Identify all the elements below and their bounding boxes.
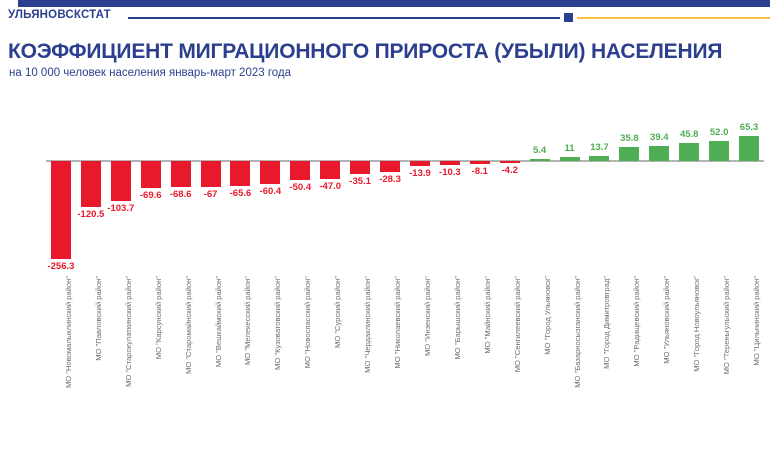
bar[interactable] [350,161,370,174]
category-axis-label: МО "Вешкаймский район" [214,276,223,367]
category-axis-label: МО "Инзенский район" [423,276,432,356]
bar-value-label: -103.7 [107,203,134,214]
bar-value-label: 65.3 [740,122,759,133]
bar[interactable] [111,161,131,201]
bar[interactable] [619,147,639,161]
category-axis-label: МО "Цильнинский район" [752,276,761,365]
bar[interactable] [380,161,400,172]
brand-rule-yellow [577,17,770,19]
top-header-band [18,0,770,7]
bar-slot: -8.1МО "Майнский район" [465,100,495,420]
bar-value-label: -35.1 [349,176,371,187]
bar[interactable] [290,161,310,180]
bar-value-label: 52.0 [710,127,729,138]
bar-value-label: -120.5 [77,209,104,220]
bar-value-label: -4.2 [502,165,518,176]
category-axis-label: МО "Павловский район" [94,276,103,361]
bar-value-label: -69.6 [140,190,162,201]
bar[interactable] [589,156,609,161]
bar[interactable] [470,161,490,164]
bar[interactable] [500,161,520,163]
bar-value-label: -68.6 [170,189,192,200]
category-axis-label: МО "Николаевский район" [393,276,402,369]
bar[interactable] [649,146,669,161]
category-axis-label: МО "Новомалыклинский район" [64,276,73,388]
bar[interactable] [260,161,280,184]
bar-value-label: 45.8 [680,129,699,140]
bar-slot: 52.0МО "Тереньгульский район" [704,100,734,420]
bar-slot: 13.7МО "Город Димитровград" [585,100,615,420]
bar-slot: -120.5МО "Павловский район" [76,100,106,420]
category-axis-label: МО "Кузоватовский район" [273,276,282,370]
category-axis-label: МО "Барышский район" [453,276,462,360]
category-axis-label: МО "Карсунский район" [154,276,163,359]
bar-value-label: -256.3 [47,261,74,272]
category-axis-label: МО "Базарносызганский район" [573,276,582,388]
bar-slot: -35.1МО "Чердаклинский район" [345,100,375,420]
bar-value-label: -65.6 [230,188,252,199]
category-axis-label: МО "Майнский район" [483,276,492,354]
bar[interactable] [440,161,460,165]
bar[interactable] [410,161,430,166]
bar-value-label: 35.8 [620,133,639,144]
bar-slot: -4.2МО "Сенгилеевский район" [495,100,525,420]
bar-value-label: 39.4 [650,132,669,143]
category-axis-label: МО "Тереньгульский район" [722,276,731,374]
bar[interactable] [530,159,550,161]
brand-square-marker [564,13,573,22]
bar-value-label: 13.7 [590,142,609,153]
chart-subtitle: на 10 000 человек населения январь-март … [9,67,291,79]
category-axis-label: МО "Старокулаткинский район" [124,276,133,387]
bar-slot: 5.4МО "Город Ульяновск" [525,100,555,420]
bar-value-label: -67 [204,189,218,200]
bar[interactable] [560,157,580,161]
bar-slot: -47.0МО "Сурский район" [315,100,345,420]
category-axis-label: МО "Ульяновский район" [662,276,671,364]
category-axis-label: МО "Новоспасский район" [303,276,312,368]
bar-slot: -50.4МО "Новоспасский район" [285,100,315,420]
bar-value-label: -8.1 [472,166,488,177]
bar-slot: -256.3МО "Новомалыклинский район" [46,100,76,420]
category-axis-label: МО "Чердаклинский район" [363,276,372,373]
bar-slot: -65.6МО "Мелекесский район" [226,100,256,420]
bar-slot: 39.4МО "Ульяновский район" [644,100,674,420]
bar-value-label: -60.4 [260,186,282,197]
bar-slot: -69.6МО "Карсунский район" [136,100,166,420]
bar[interactable] [709,141,729,161]
bar-value-label: -13.9 [409,168,431,179]
category-axis-label: МО "Радищевский район" [632,276,641,367]
bar-value-label: 11 [565,143,575,154]
bar-chart-plot-area: -256.3МО "Новомалыклинский район"-120.5М… [46,100,764,420]
bar[interactable] [739,136,759,161]
bar[interactable] [141,161,161,188]
category-axis-label: МО "Сурский район" [333,276,342,348]
bar-value-label: -10.3 [439,167,461,178]
brand-rule-blue [128,17,560,19]
bar-value-label: -28.3 [379,174,401,185]
bar[interactable] [320,161,340,179]
bar-value-label: 5.4 [533,145,546,156]
bar-slot: -67МО "Вешкаймский район" [196,100,226,420]
brand-name: УЛЬЯНОВСКСТАТ [8,9,111,21]
bar[interactable] [51,161,71,259]
category-axis-label: МО "Сенгилеевский район" [513,276,522,372]
chart-title: КОЭФФИЦИЕНТ МИГРАЦИОННОГО ПРИРОСТА (УБЫЛ… [8,40,722,64]
bar-slot: -13.9МО "Инзенский район" [405,100,435,420]
bar[interactable] [81,161,101,207]
category-axis-label: МО "Старомайнский район" [184,276,193,374]
brand-row: УЛЬЯНОВСКСТАТ [0,9,770,25]
bar[interactable] [230,161,250,186]
bar-value-label: -50.4 [289,182,311,193]
bar-slot: -28.3МО "Николаевский район" [375,100,405,420]
bar-slot: 11МО "Базарносызганский район" [555,100,585,420]
bar-slot: -60.4МО "Кузоватовский район" [255,100,285,420]
category-axis-label: МО "Город Димитровград" [602,276,611,369]
bar-value-label: -47.0 [319,181,341,192]
bar[interactable] [679,143,699,161]
bar-slot: -10.3МО "Барышский район" [435,100,465,420]
bar[interactable] [201,161,221,187]
category-axis-label: МО "Город Ульяновск" [543,276,552,355]
category-axis-label: МО "Город Новоульяновск" [692,276,701,372]
category-axis-label: МО "Мелекесский район" [243,276,252,365]
bar-slot: 45.8МО "Город Новоульяновск" [674,100,704,420]
bar-slot: -68.6МО "Старомайнский район" [166,100,196,420]
bar[interactable] [171,161,191,187]
bar-slot: -103.7МО "Старокулаткинский район" [106,100,136,420]
bar-slot: 35.8МО "Радищевский район" [614,100,644,420]
bar-slot: 65.3МО "Цильнинский район" [734,100,764,420]
